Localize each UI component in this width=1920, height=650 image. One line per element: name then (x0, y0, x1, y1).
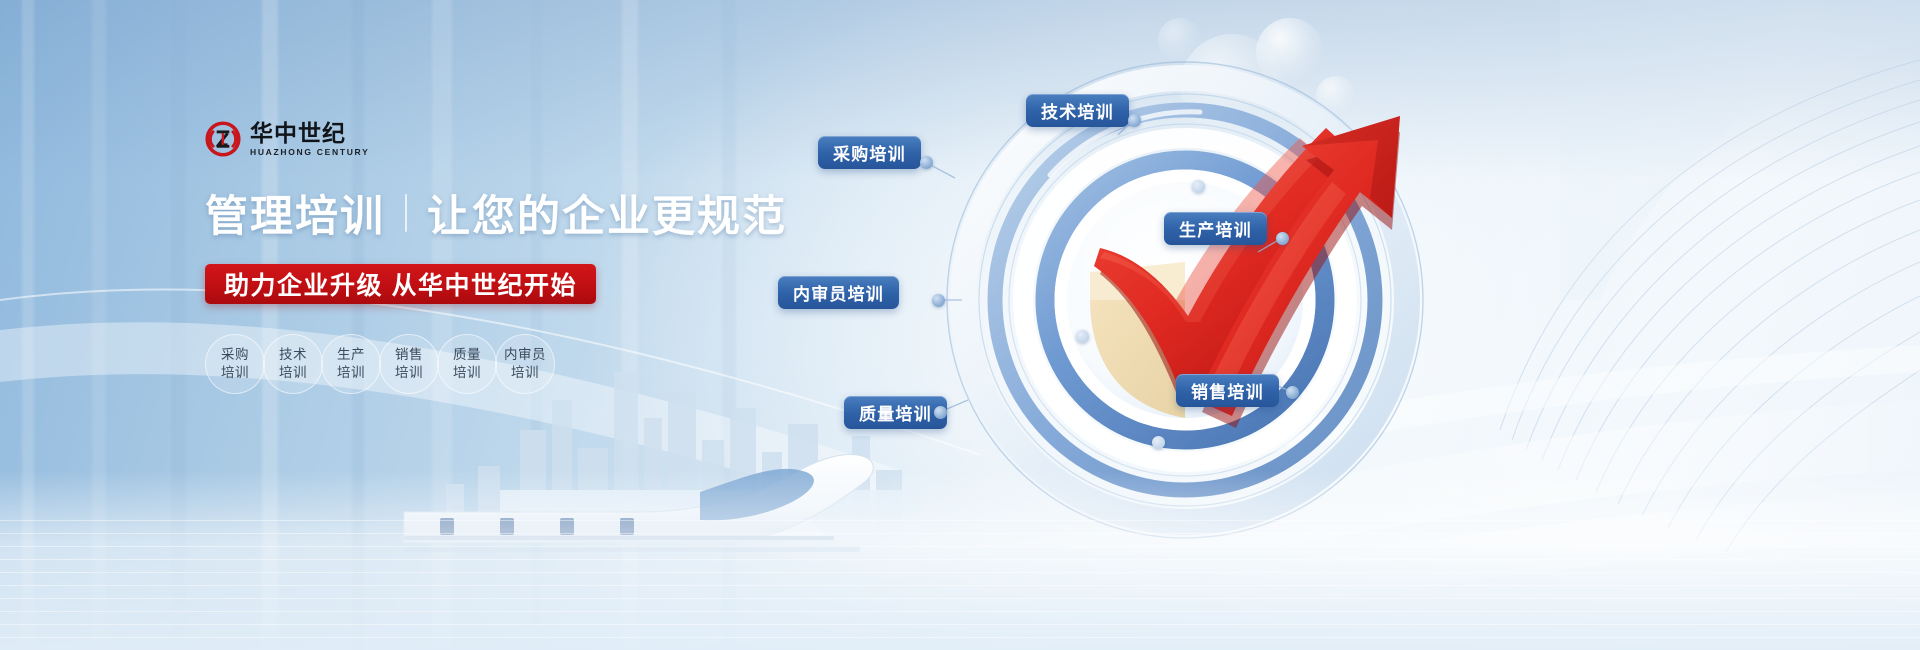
training-chip-list: 采购 培训 技术 培训 生产 培训 销售 培训 质量 培训 内审员 培训 (205, 334, 825, 394)
training-chip-sales[interactable]: 销售 培训 (379, 334, 439, 394)
badge-node-production (1276, 232, 1289, 245)
badge-node-sales (1286, 386, 1299, 399)
red-checkmark (1094, 128, 1368, 402)
badge-sales-training[interactable]: 销售培训 (1176, 374, 1279, 407)
ring-node-inner-left (1076, 330, 1089, 343)
training-chip-production[interactable]: 生产 培训 (321, 334, 381, 394)
floor-gradient (0, 470, 1920, 650)
training-chip-quality[interactable]: 质量 培训 (437, 334, 497, 394)
ring-node-top (1192, 180, 1205, 193)
huazhong-century-logo-icon (205, 121, 241, 157)
promo-banner: 华中世纪 HUAZHONG CENTURY 管理培训 让您的企业更规范 助力企业… (0, 0, 1920, 650)
chip-line2: 培训 (453, 364, 481, 382)
headline-left: 管理培训 (205, 182, 385, 244)
badge-node-technology (1128, 114, 1141, 127)
brand-name-cn: 华中世纪 (250, 121, 369, 145)
badge-internal-auditor-training[interactable]: 内审员培训 (778, 276, 899, 309)
chip-line1: 销售 (395, 346, 423, 364)
chip-line2: 培训 (395, 364, 423, 382)
page-title: 管理培训 让您的企业更规范 (205, 182, 825, 244)
chip-line1: 采购 (221, 346, 249, 364)
badge-quality-training[interactable]: 质量培训 (844, 396, 947, 429)
brand-logo[interactable]: 华中世纪 HUAZHONG CENTURY (205, 118, 825, 160)
slogan-ribbon: 助力企业升级 从华中世纪开始 (205, 264, 596, 304)
badge-node-internal-auditor (932, 294, 945, 307)
chip-line2: 培训 (337, 364, 365, 382)
brand-name-en: HUAZHONG CENTURY (250, 147, 369, 157)
headline-divider (405, 194, 407, 232)
chip-line1: 内审员 (504, 346, 546, 364)
badge-purchasing-training[interactable]: 采购培训 (818, 136, 921, 169)
badge-production-training[interactable]: 生产培训 (1164, 212, 1267, 245)
training-chip-internal-auditor[interactable]: 内审员 培训 (495, 334, 555, 394)
training-chip-purchasing[interactable]: 采购 培训 (205, 334, 265, 394)
chip-line1: 质量 (453, 346, 481, 364)
chip-line2: 培训 (221, 364, 249, 382)
headline-right: 让您的企业更规范 (427, 182, 787, 244)
ring-node-bottom (1152, 436, 1165, 449)
badge-node-purchasing (920, 156, 933, 169)
training-chip-technology[interactable]: 技术 培训 (263, 334, 323, 394)
banner-content: 华中世纪 HUAZHONG CENTURY 管理培训 让您的企业更规范 助力企业… (205, 118, 825, 394)
badge-node-quality (934, 406, 947, 419)
chip-line1: 生产 (337, 346, 365, 364)
chip-line1: 技术 (279, 346, 307, 364)
target-rings (947, 62, 1423, 538)
bullet-train (400, 455, 873, 552)
chip-line2: 培训 (279, 364, 307, 382)
chip-line2: 培训 (511, 364, 539, 382)
floor-lines (0, 520, 1920, 650)
city-skyline (446, 372, 902, 540)
badge-technology-training[interactable]: 技术培训 (1026, 94, 1129, 127)
